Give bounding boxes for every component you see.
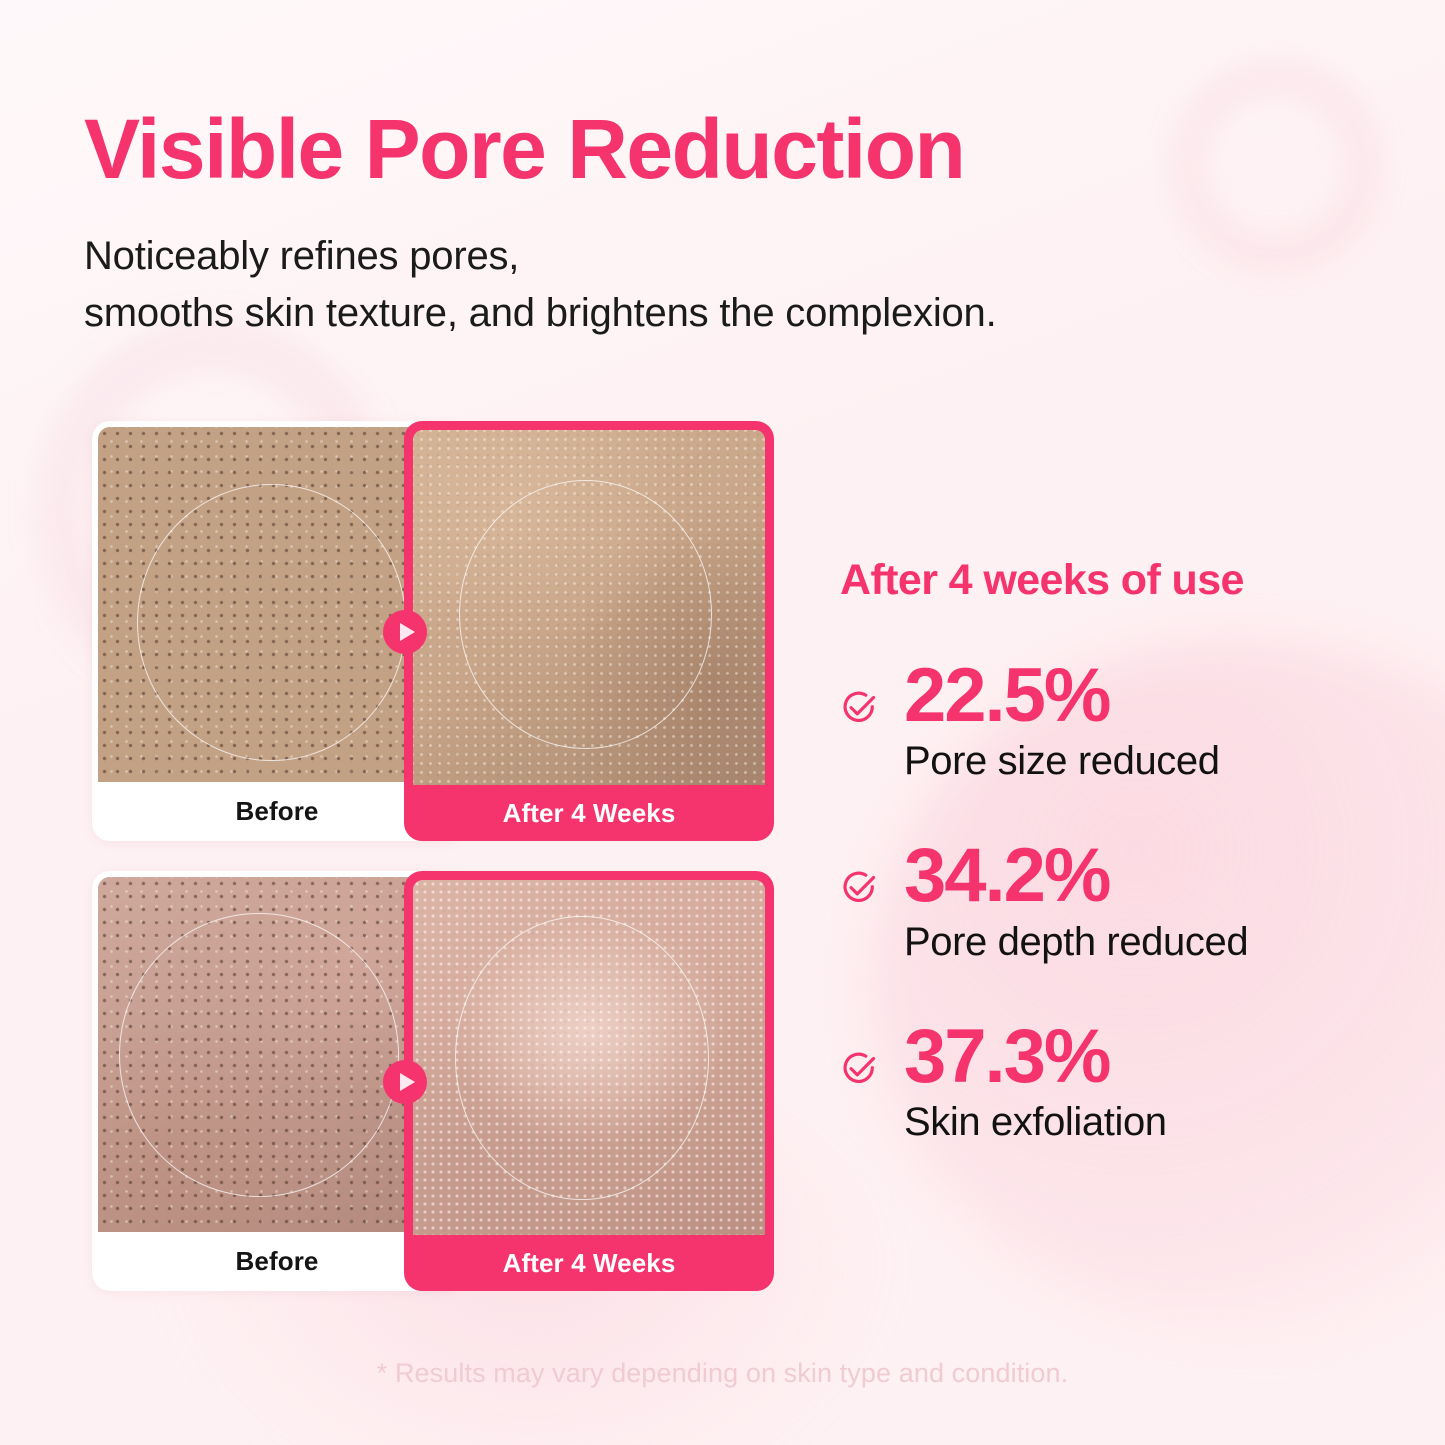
results-stats-panel: After 4 weeks of use 22.5% Pore size red… (840, 556, 1400, 1144)
stat-label: Skin exfoliation (904, 1100, 1400, 1144)
stat-value: 22.5% (904, 659, 1400, 733)
play-icon[interactable] (383, 610, 427, 654)
after-card-row-2[interactable]: After 4 Weeks (404, 871, 774, 1291)
play-triangle-icon (400, 623, 415, 641)
after-photo-row-2 (413, 880, 765, 1235)
before-photo-row-1 (98, 427, 456, 782)
subtitle-line-1: Noticeably refines pores, (84, 228, 997, 285)
before-after-comparison-row-2: Before After 4 Weeks (92, 871, 774, 1291)
zoom-circle-overlay (455, 916, 708, 1200)
stat-label: Pore size reduced (904, 739, 1400, 783)
stat-item-skin-exfoliation: 37.3% Skin exfoliation (840, 1020, 1400, 1144)
stat-item-pore-depth: 34.2% Pore depth reduced (840, 839, 1400, 963)
stat-value: 34.2% (904, 839, 1400, 913)
background-ring-top-right (1178, 68, 1374, 264)
before-after-comparison-row-1: Before After 4 Weeks (92, 421, 774, 841)
play-icon[interactable] (383, 1060, 427, 1104)
after-caption-row-1: After 4 Weeks (413, 785, 765, 841)
before-caption-row-1: Before (98, 782, 456, 841)
after-photo-row-1 (413, 430, 765, 785)
check-circle-icon (840, 689, 880, 727)
stat-label: Pore depth reduced (904, 920, 1400, 964)
zoom-circle-overlay (459, 480, 712, 750)
before-photo-row-2 (98, 877, 456, 1232)
page-title: Visible Pore Reduction (84, 107, 964, 191)
page-subtitle: Noticeably refines pores, smooths skin t… (84, 228, 997, 342)
after-caption-row-2: After 4 Weeks (413, 1235, 765, 1291)
stat-body: 22.5% Pore size reduced (904, 659, 1400, 783)
before-caption-row-2: Before (98, 1232, 456, 1291)
zoom-circle-overlay (119, 913, 398, 1197)
stat-body: 34.2% Pore depth reduced (904, 839, 1400, 963)
disclaimer-footnote: * Results may vary depending on skin typ… (0, 1358, 1445, 1389)
zoom-circle-overlay (137, 484, 406, 761)
stat-item-pore-size: 22.5% Pore size reduced (840, 659, 1400, 783)
check-circle-icon (840, 869, 880, 907)
stats-title: After 4 weeks of use (840, 556, 1400, 605)
after-card-row-1[interactable]: After 4 Weeks (404, 421, 774, 841)
play-triangle-icon (400, 1073, 415, 1091)
infographic-page: Visible Pore Reduction Noticeably refine… (0, 0, 1445, 1445)
stat-value: 37.3% (904, 1020, 1400, 1094)
check-circle-icon (840, 1050, 880, 1088)
stat-body: 37.3% Skin exfoliation (904, 1020, 1400, 1144)
subtitle-line-2: smooths skin texture, and brightens the … (84, 285, 997, 342)
